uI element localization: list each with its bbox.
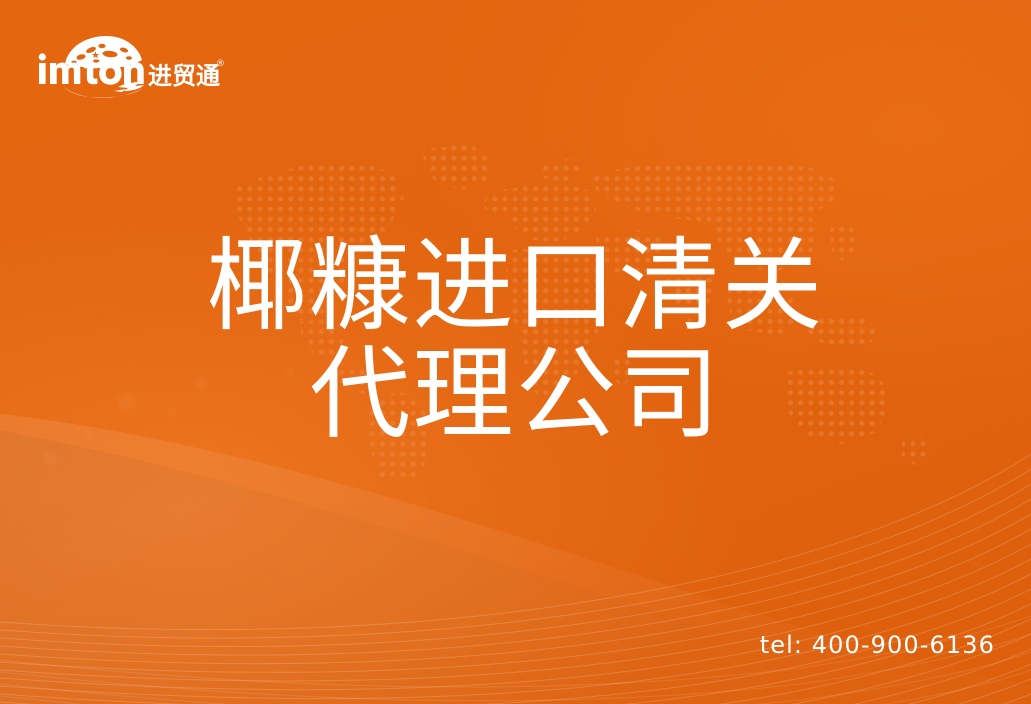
logo-chinese-name: 进贸通 ® bbox=[148, 59, 224, 90]
plane-swoosh-icon bbox=[64, 82, 144, 98]
headline: 椰糠进口清关 代理公司 bbox=[0, 232, 1031, 448]
contact-phone[interactable]: tel: 400-900-6136 bbox=[760, 631, 995, 659]
headline-line-1: 椰糠进口清关 bbox=[0, 232, 1031, 340]
svg-text:进贸通: 进贸通 bbox=[148, 62, 220, 90]
registered-mark: ® bbox=[216, 59, 224, 69]
headline-line-2: 代理公司 bbox=[0, 340, 1031, 448]
company-logo[interactable]: 进贸通 ® bbox=[34, 33, 224, 99]
promo-banner: 进贸通 ® 椰糠进口清关 代理公司 tel: 400-900-6136 bbox=[0, 0, 1031, 704]
